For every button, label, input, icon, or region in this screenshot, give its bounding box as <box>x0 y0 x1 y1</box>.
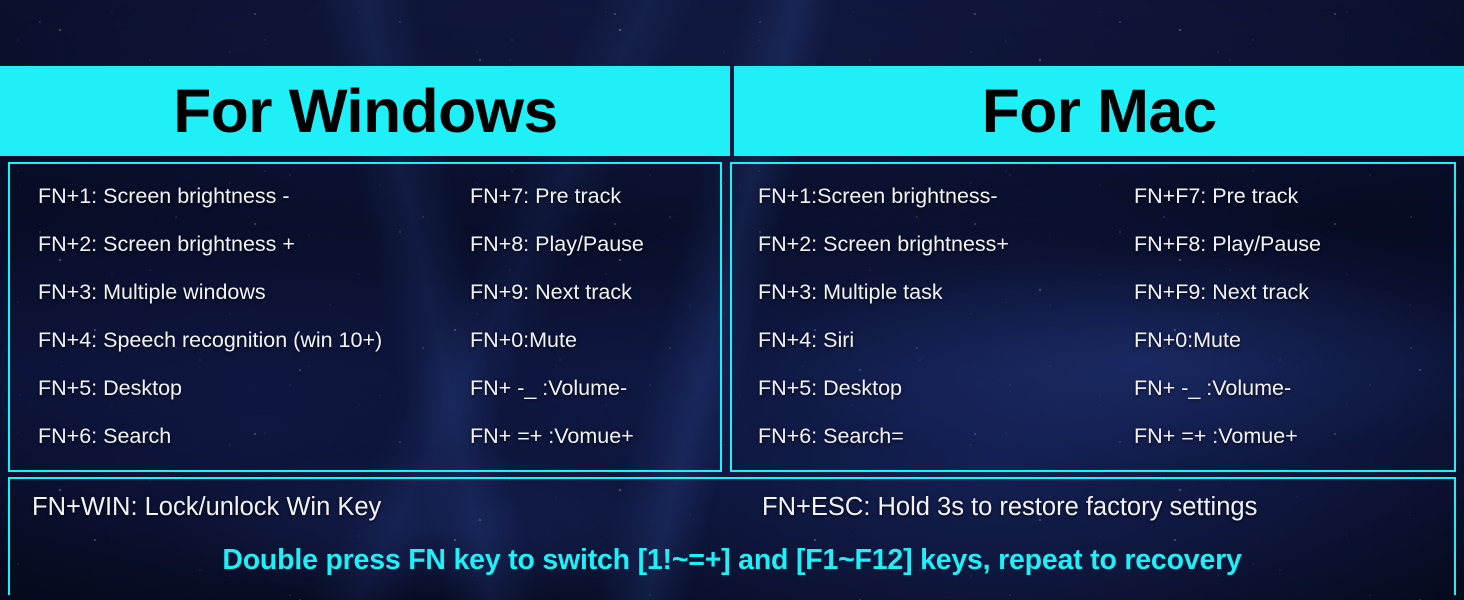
shortcut-row: FN+3: Multiple windows <box>38 269 458 317</box>
shortcut-row: FN+ -_ :Volume- <box>1134 365 1442 413</box>
shortcut-row: FN+2: Screen brightness + <box>38 221 458 269</box>
shortcut-row: FN+9: Next track <box>470 269 708 317</box>
banner-mac: For Mac <box>734 66 1464 156</box>
footer-note-text: Double press FN key to switch [1!~=+] an… <box>222 546 1241 575</box>
shortcut-row: FN+6: Search= <box>758 413 1122 461</box>
shortcut-row: FN+ =+ :Vomue+ <box>470 413 708 461</box>
mac-column-right: FN+F7: Pre track FN+F8: Play/Pause FN+F9… <box>1122 164 1442 470</box>
banner-windows-title: For Windows <box>173 81 557 142</box>
shortcut-row: FN+6: Search <box>38 413 458 461</box>
banner-mac-title: For Mac <box>982 81 1217 142</box>
shortcut-row: FN+ -_ :Volume- <box>470 365 708 413</box>
shortcut-row: FN+4: Siri <box>758 317 1122 365</box>
footer-note-row: Double press FN key to switch [1!~=+] an… <box>10 535 1454 585</box>
footer-shortcut-row: FN+WIN: Lock/unlock Win Key FN+ESC: Hold… <box>10 485 1454 531</box>
shortcut-row: FN+ =+ :Vomue+ <box>1134 413 1442 461</box>
windows-column-left: FN+1: Screen brightness - FN+2: Screen b… <box>10 164 458 470</box>
shortcut-row: FN+F8: Play/Pause <box>1134 221 1442 269</box>
shortcut-row: FN+5: Desktop <box>38 365 458 413</box>
shortcut-row: FN+4: Speech recognition (win 10+) <box>38 317 458 365</box>
shortcut-row: FN+7: Pre track <box>470 173 708 221</box>
banner-windows: For Windows <box>0 66 730 156</box>
shortcut-row: FN+F9: Next track <box>1134 269 1442 317</box>
shortcut-row: FN+1:Screen brightness- <box>758 173 1122 221</box>
shortcut-row: FN+2: Screen brightness+ <box>758 221 1122 269</box>
panel-mac-shortcuts: FN+1:Screen brightness- FN+2: Screen bri… <box>730 162 1456 472</box>
shortcut-panels: FN+1: Screen brightness - FN+2: Screen b… <box>8 162 1456 472</box>
shortcut-row: FN+0:Mute <box>470 317 708 365</box>
mac-column-left: FN+1:Screen brightness- FN+2: Screen bri… <box>732 164 1122 470</box>
panel-windows-shortcuts: FN+1: Screen brightness - FN+2: Screen b… <box>8 162 722 472</box>
shortcut-row: FN+8: Play/Pause <box>470 221 708 269</box>
shortcut-row: FN+3: Multiple task <box>758 269 1122 317</box>
platform-banner-row: For Windows For Mac <box>0 66 1464 156</box>
footer-panel: FN+WIN: Lock/unlock Win Key FN+ESC: Hold… <box>8 477 1456 595</box>
shortcut-row: FN+F7: Pre track <box>1134 173 1442 221</box>
windows-column-right: FN+7: Pre track FN+8: Play/Pause FN+9: N… <box>458 164 708 470</box>
footer-windows-shortcut: FN+WIN: Lock/unlock Win Key <box>10 495 750 521</box>
shortcut-row: FN+5: Desktop <box>758 365 1122 413</box>
shortcut-row: FN+0:Mute <box>1134 317 1442 365</box>
shortcut-row: FN+1: Screen brightness - <box>38 173 458 221</box>
footer-mac-shortcut: FN+ESC: Hold 3s to restore factory setti… <box>750 495 1257 521</box>
